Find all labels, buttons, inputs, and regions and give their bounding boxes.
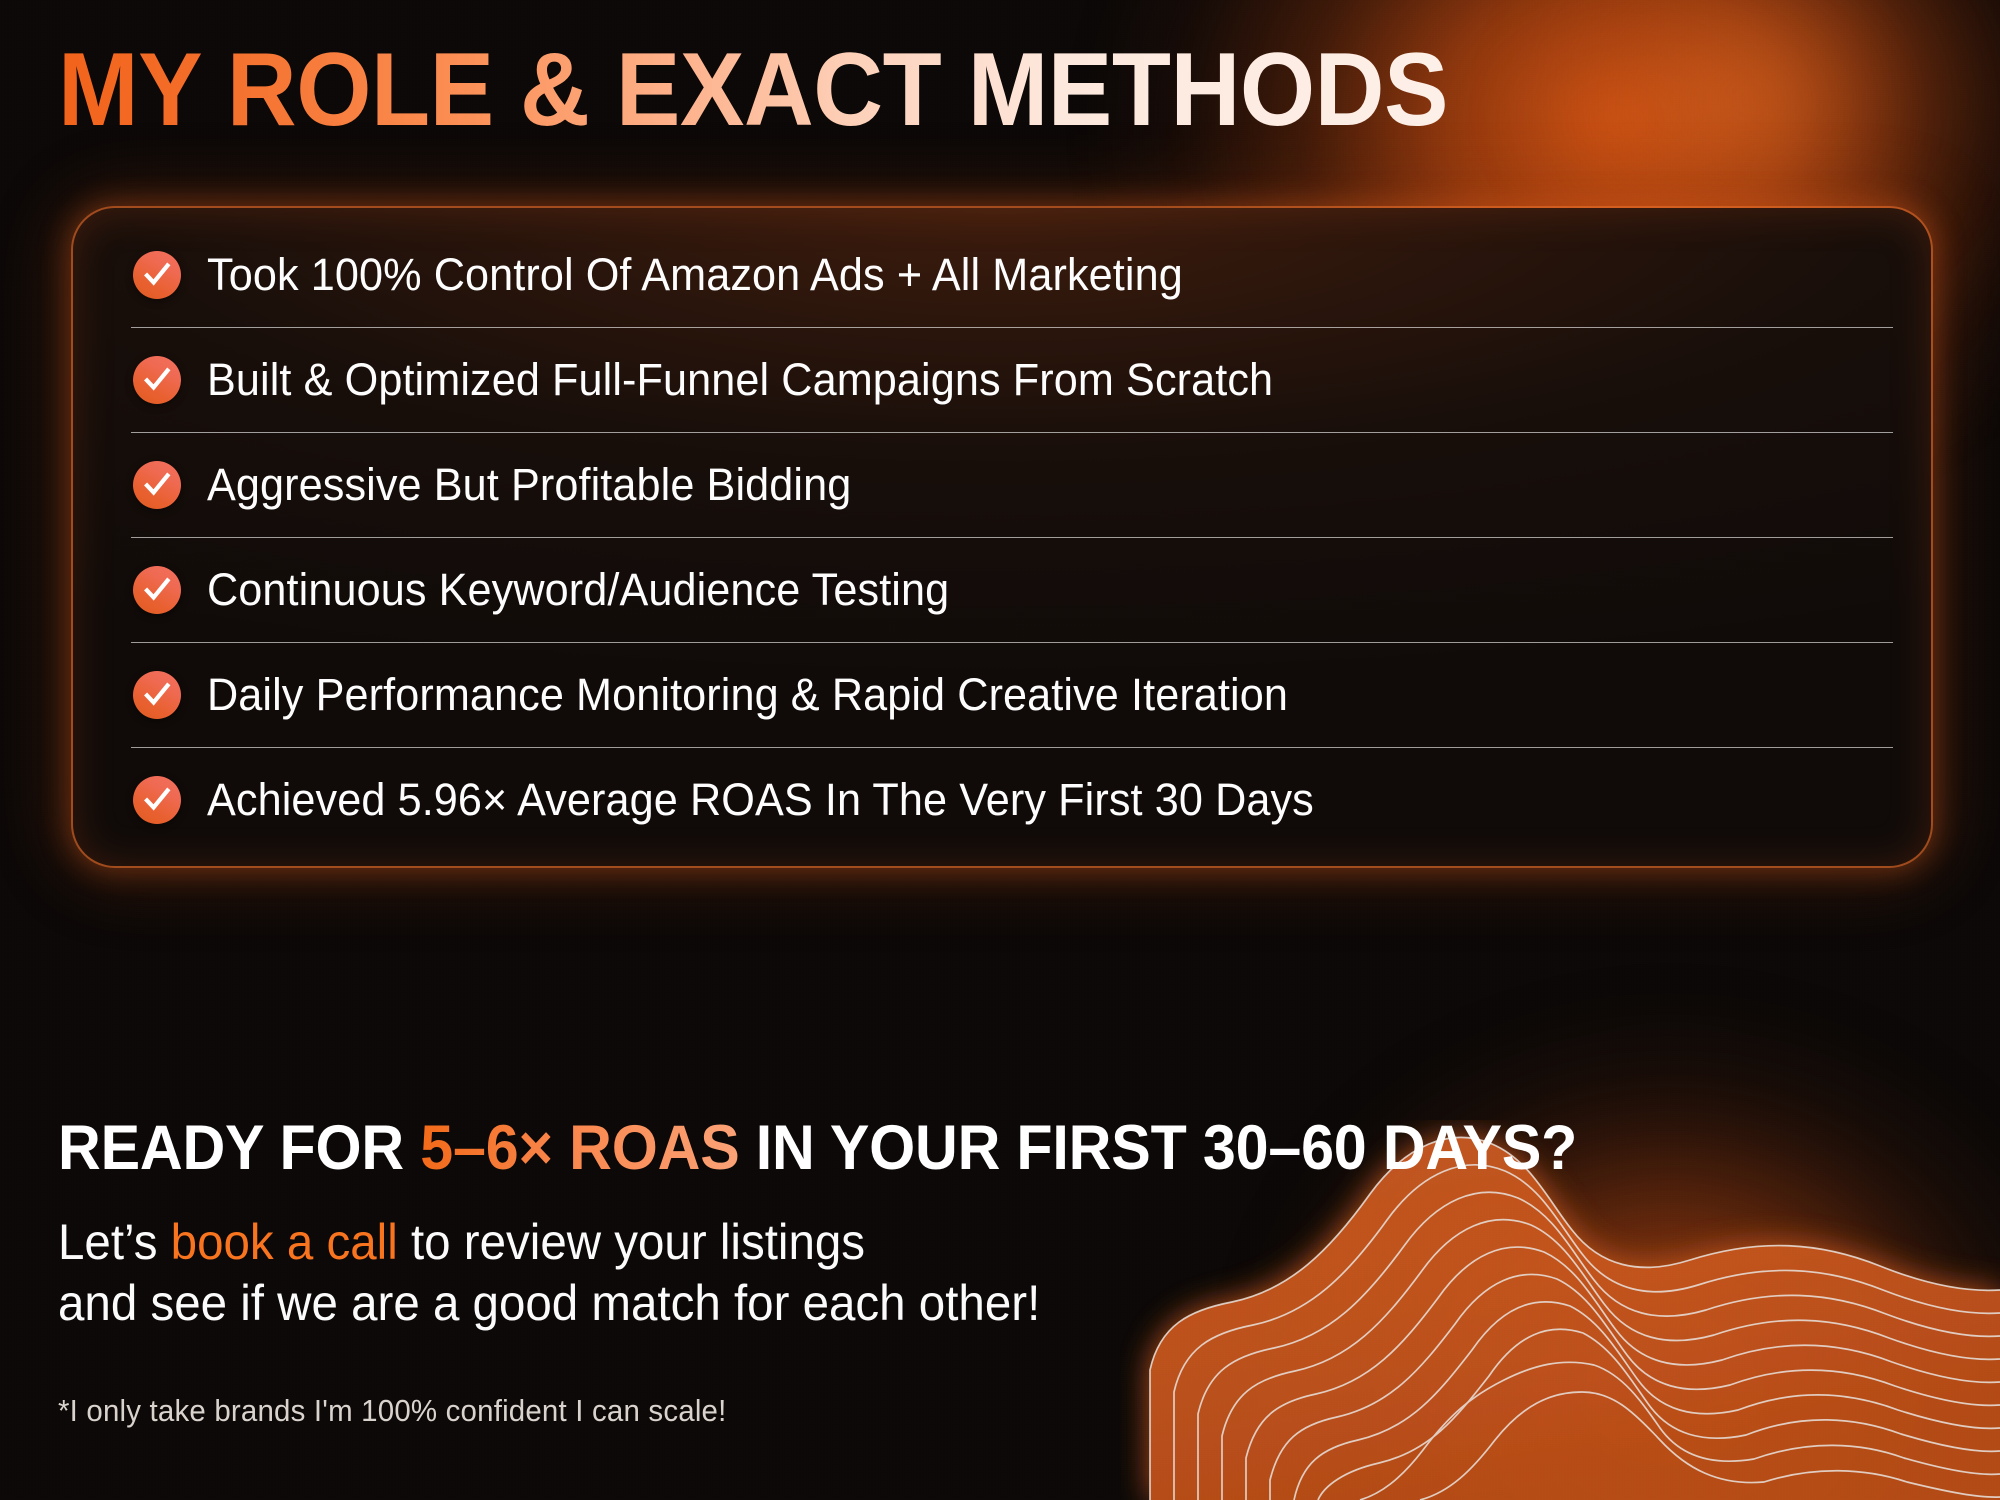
list-item-label: Aggressive But Profitable Bidding [207, 459, 851, 511]
cta-headline-part1: READY FOR [58, 1113, 420, 1183]
cta-headline-part2: IN YOUR FIRST 30–60 DAYS? [740, 1113, 1578, 1183]
list-item-label: Daily Performance Monitoring & Rapid Cre… [207, 669, 1288, 721]
check-circle-icon [133, 251, 181, 299]
list-item-label: Continuous Keyword/Audience Testing [207, 564, 949, 616]
cta-subtext-line1: Let’s book a call to review your listing… [58, 1212, 1040, 1273]
cta-headline: READY FOR 5–6× ROAS IN YOUR FIRST 30–60 … [58, 1112, 1577, 1184]
check-circle-icon [133, 566, 181, 614]
methods-card: Took 100% Control Of Amazon Ads + All Ma… [73, 208, 1931, 866]
cta-subtext: Let’s book a call to review your listing… [58, 1212, 1040, 1334]
list-item-label: Built & Optimized Full-Funnel Campaigns … [207, 354, 1273, 406]
list-item: Achieved 5.96× Average ROAS In The Very … [107, 747, 1897, 852]
cta-subtext-suffix: to review your listings [398, 1214, 865, 1270]
check-circle-icon [133, 461, 181, 509]
check-circle-icon [133, 776, 181, 824]
bottom-right-glow [1160, 930, 2000, 1500]
page-title: MY ROLE & EXACT METHODS [58, 34, 1448, 146]
methods-list: Took 100% Control Of Amazon Ads + All Ma… [107, 222, 1897, 852]
list-item: Took 100% Control Of Amazon Ads + All Ma… [107, 222, 1897, 327]
list-item-label: Achieved 5.96× Average ROAS In The Very … [207, 774, 1314, 826]
cta-headline-highlight: 5–6× ROAS [420, 1113, 739, 1183]
list-item: Daily Performance Monitoring & Rapid Cre… [107, 642, 1897, 747]
check-circle-icon [133, 356, 181, 404]
list-item: Built & Optimized Full-Funnel Campaigns … [107, 327, 1897, 432]
footnote: *I only take brands I'm 100% confident I… [58, 1393, 727, 1429]
slide-root: MY ROLE & EXACT METHODS Took 100% Contro… [0, 0, 2000, 1500]
check-circle-icon [133, 671, 181, 719]
cta-subtext-line2: and see if we are a good match for each … [58, 1273, 1040, 1334]
list-item: Continuous Keyword/Audience Testing [107, 537, 1897, 642]
cta-subtext-prefix: Let’s [58, 1214, 171, 1270]
book-a-call-link[interactable]: book a call [171, 1214, 398, 1270]
list-item-label: Took 100% Control Of Amazon Ads + All Ma… [207, 249, 1183, 301]
list-item: Aggressive But Profitable Bidding [107, 432, 1897, 537]
